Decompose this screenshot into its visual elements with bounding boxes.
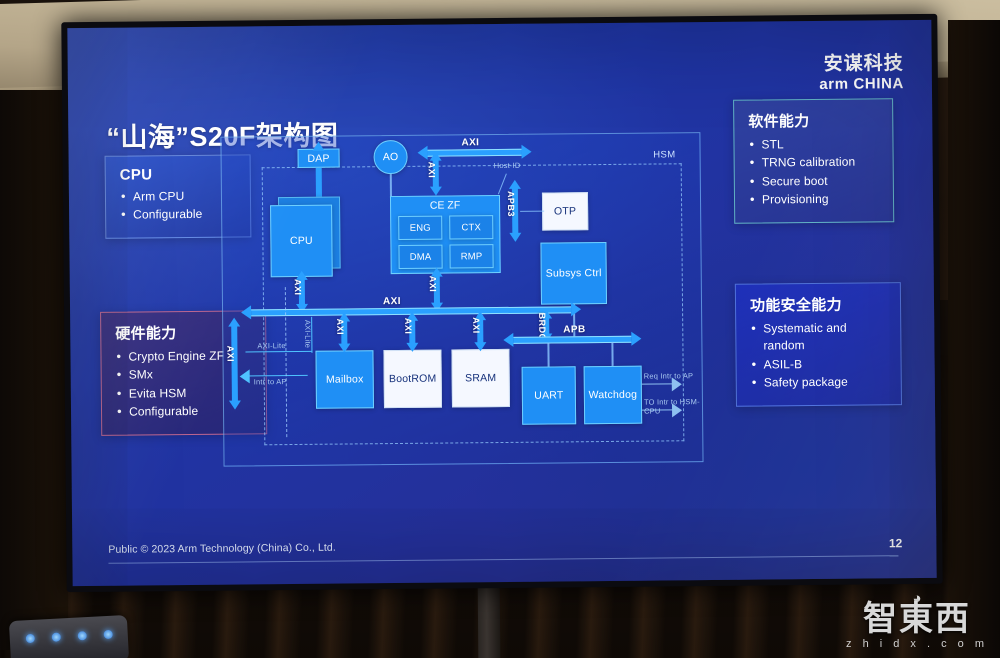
annotation-to-intr-hsm-cpu: TO Intr to HSM-CPU — [644, 397, 702, 416]
card-functional-safety: 功能安全能力 Systematic and random ASIL-B Safe… — [735, 282, 902, 406]
right-shadow — [948, 20, 1000, 658]
footer-divider — [108, 555, 898, 564]
annotation-axi-lite-mid: AXI-Lite — [257, 341, 285, 350]
block-watchdog: Watchdog — [584, 366, 643, 425]
dap-arrowhead-icon — [312, 142, 324, 151]
annotation-req-intr-to-ap: Req Intr to AP — [644, 371, 694, 380]
block-dma: DMA — [398, 245, 442, 269]
annotation-axi-lite-top: AXI-Lite — [303, 320, 312, 348]
block-ce-zf-label: CE ZF — [391, 199, 499, 212]
block-mailbox: Mailbox — [315, 350, 374, 409]
card-software-list: STL TRNG calibration Secure boot Provisi… — [748, 135, 881, 209]
list-item: Systematic and random — [750, 319, 888, 355]
bus-apb-label: APB — [563, 324, 585, 335]
tv-stand — [478, 580, 501, 658]
block-rmp: RMP — [449, 244, 493, 268]
card-safety-list: Systematic and random ASIL-B Safety pack… — [750, 319, 889, 392]
axi-left-connector — [231, 324, 238, 404]
axi-mailbox-down-arrow-icon — [338, 343, 350, 352]
list-item: ASIL-B — [751, 355, 889, 374]
device-led-icon — [26, 634, 35, 643]
block-cpu: CPU — [270, 205, 333, 278]
foreground-device — [9, 615, 129, 658]
logo-china-text: CHINA — [853, 75, 904, 92]
list-item: Secure boot — [749, 172, 881, 191]
slide-canvas: 安谋科技 arm CHINA “山海”S20F架构图 CPU Arm CPU C… — [67, 20, 936, 586]
block-otp: OTP — [542, 192, 588, 230]
card-safety-title: 功能安全能力 — [750, 293, 888, 315]
bus-axi-top — [428, 149, 522, 157]
block-ctx: CTX — [449, 215, 493, 239]
device-led-icon — [103, 630, 112, 639]
list-item: Provisioning — [749, 191, 881, 210]
list-item: TRNG calibration — [749, 154, 881, 173]
annotation-host-id: Host-ID — [494, 161, 521, 170]
axi-top-left-arrow-icon — [417, 146, 427, 160]
block-dap: DAP — [298, 149, 340, 168]
connector-axi-bootrom-label: AXI — [403, 318, 413, 335]
connector-axi-sram-label: AXI — [471, 317, 481, 334]
device-led-icon — [52, 632, 61, 641]
block-subsys-ctrl: Subsys Ctrl — [540, 242, 607, 305]
connector-apb3-label: APB3 — [506, 191, 516, 217]
connector-axi-mailbox-label: AXI — [335, 319, 345, 336]
presentation-screen: 安谋科技 arm CHINA “山海”S20F架构图 CPU Arm CPU C… — [61, 14, 942, 592]
block-bootrom: BootROM — [383, 350, 442, 409]
device-led-icon — [78, 631, 87, 640]
room-scene: 安谋科技 arm CHINA “山海”S20F架构图 CPU Arm CPU C… — [0, 0, 1000, 658]
bus-apb — [513, 336, 631, 344]
axi-main-left-arrow-icon — [241, 305, 251, 319]
logo-chinese-text: 安谋科技 — [819, 54, 904, 75]
list-item: Safety package — [751, 373, 889, 392]
axi-sram-down-arrow-icon — [474, 342, 486, 351]
otp-connector — [520, 211, 544, 212]
apb-right-arrow-icon — [631, 332, 641, 346]
axi-top-right-arrow-icon — [521, 145, 531, 159]
card-software-capability: 软件能力 STL TRNG calibration Secure boot Pr… — [733, 98, 894, 223]
block-uart: UART — [522, 366, 577, 425]
bus-axi-main-label: AXI — [383, 296, 401, 307]
footer-copyright: Public © 2023 Arm Technology (China) Co.… — [108, 542, 336, 556]
block-eng: ENG — [398, 216, 442, 240]
block-ce-zf: CE ZF ENG CTX DMA RMP — [390, 195, 501, 274]
architecture-diagram: HSM DAP AO AXI Host-ID — [220, 132, 703, 467]
connector-axi-left-label: AXI — [225, 346, 235, 363]
arm-china-logo: 安谋科技 arm CHINA — [819, 54, 904, 93]
left-shadow — [0, 90, 68, 650]
uart-connector — [547, 343, 549, 367]
annotation-intr-to-ap: Intr to AP — [254, 377, 287, 386]
watermark: ◕ 智東西 z h i d x . c o m — [846, 591, 988, 650]
page-number: 12 — [889, 536, 902, 550]
watchdog-connector — [611, 342, 613, 366]
watermark-logo: 智東西 — [846, 602, 988, 636]
card-software-title: 软件能力 — [748, 109, 880, 131]
list-item: STL — [748, 135, 880, 154]
logo-arm-text: arm — [819, 76, 848, 93]
apb3-down-arrow-icon — [509, 233, 521, 242]
connector-axi-ce-label: AXI — [428, 276, 438, 293]
watermark-domain: z h i d x . c o m — [846, 638, 988, 650]
connector-axi-ao-label: AXI — [427, 162, 437, 179]
apb3-up-arrow-icon — [509, 180, 521, 189]
connector-axi-cpu-label: AXI — [293, 279, 303, 296]
intr-to-ap-arrow-icon — [240, 369, 250, 383]
logo-english-text: arm CHINA — [819, 75, 904, 93]
block-ao: AO — [373, 140, 407, 174]
bus-axi-top-label: AXI — [461, 137, 479, 148]
axi-left-up-arrow-icon — [228, 318, 240, 327]
axi-bootrom-down-arrow-icon — [406, 343, 418, 352]
axi-ao-up-arrow-icon — [430, 152, 442, 161]
axi-ao-down-arrow-icon — [430, 187, 442, 196]
block-sram: SRAM — [451, 349, 510, 408]
axi-left-down-arrow-icon — [229, 401, 241, 410]
hsm-boundary-label: HSM — [653, 149, 675, 160]
apb-left-arrow-icon — [503, 333, 513, 347]
axi-main-right-arrow-icon — [571, 302, 581, 316]
